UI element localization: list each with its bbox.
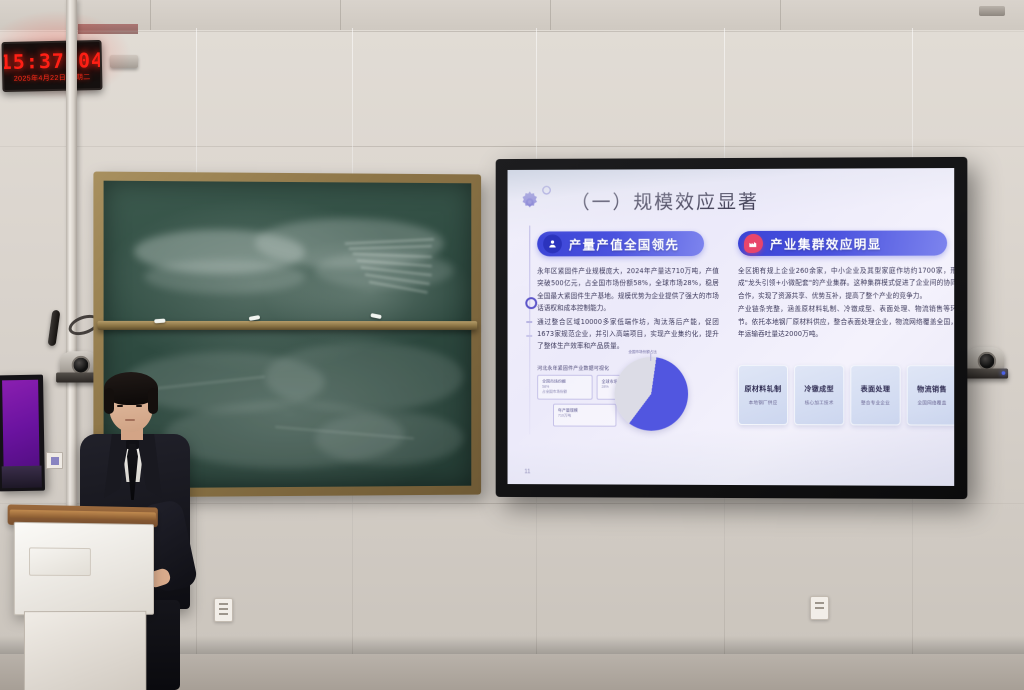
podium-control-panel[interactable] <box>29 547 91 576</box>
podium <box>8 504 158 690</box>
ptz-camera-right <box>960 342 1012 382</box>
user-icon <box>543 234 562 253</box>
wall-seam <box>0 31 1024 32</box>
ceiling-device <box>110 55 138 68</box>
paragraph: 永年区紧固件产业规模庞大，2024年产量达710万吨，产值突破500亿元，占全国… <box>537 265 719 315</box>
badge-label: 产业集群效应明显 <box>770 234 882 253</box>
gear-icon <box>517 184 557 218</box>
side-monitor <box>0 375 45 492</box>
display-screen[interactable]: 11 （一）规模效应显著 <box>508 168 955 486</box>
ceiling-strip <box>78 24 138 34</box>
card-title: 表面处理 <box>861 384 891 394</box>
pie-chart-graphic <box>614 357 688 431</box>
mini-box-note: 占全国市场份额 <box>542 390 588 395</box>
clock-date: 2025年4月22日 星期二 <box>14 74 91 83</box>
slide-title: （一）规模效应显著 <box>571 187 759 215</box>
wall-seam <box>0 146 1024 147</box>
podium-front <box>14 522 154 615</box>
ceiling-panel <box>150 0 341 30</box>
mini-box: 年产量规模 710万吨 <box>553 404 616 427</box>
wall-outlet[interactable] <box>214 598 233 622</box>
pie-leader-line <box>650 354 651 361</box>
clock-time: 15:37:04 <box>1 49 102 71</box>
podium-base <box>24 611 146 690</box>
mini-box-value: 710万吨 <box>558 414 612 419</box>
card-subtitle: 本地钢厂供应 <box>749 400 778 406</box>
card-subtitle: 全国网络覆盖 <box>917 400 946 406</box>
wall-outlet[interactable] <box>810 596 829 620</box>
classroom-scene: 15:37:04 2025年4月22日 星期二 <box>0 0 1024 690</box>
badge-production-leading: 产量产值全国领先 <box>537 231 704 256</box>
slide-column-left: 产量产值全国领先 永年区紧固件产业规模庞大，2024年产量达710万吨，产值突破… <box>537 231 719 354</box>
support-pole <box>66 0 77 565</box>
paragraph: 全区拥有规上企业260余家，中小企业及其型家庭作坊约1700家，形成"龙头引领+… <box>738 265 954 303</box>
paragraph: 通过整合区域10000多家低端作坊，淘汰落后产能，促团1673家规范企业，并引入… <box>537 316 719 353</box>
slide-marker-dash <box>526 321 532 323</box>
side-monitor-base <box>2 466 42 489</box>
card-title: 冷镦成型 <box>804 384 834 394</box>
slide-column-right: 产业集群效应明显 全区拥有规上企业260余家，中小企业及其型家庭作坊约1700家… <box>738 230 954 341</box>
card-subtitle: 整合专业企业 <box>861 400 890 406</box>
card-title: 原材料轧制 <box>744 384 781 394</box>
pie-chart-title: 全国市场份额占比 <box>628 350 657 355</box>
left-body-text: 永年区紧固件产业规模庞大，2024年产量达710万吨，产值突破500亿元，占全国… <box>537 265 719 353</box>
mini-box: 全国市场份额 58% 占全国市场份额 <box>537 375 592 400</box>
presentation-slide: 11 （一）规模效应显著 <box>508 168 955 486</box>
pie-chart: 全国市场份额占比 <box>614 357 688 431</box>
process-card: 表面处理 整合专业企业 <box>850 365 900 425</box>
presenter-mouth <box>125 419 135 421</box>
slide-marker-dot <box>525 297 537 309</box>
digital-clock: 15:37:04 2025年4月22日 星期二 <box>1 40 102 92</box>
paragraph: 产业链条完整，涵盖原材料轧制、冷镦成型、表面处理、物流销售等环节。依托本地钢厂原… <box>738 303 954 340</box>
wall-display[interactable]: 11 （一）规模效应显著 <box>496 157 968 499</box>
process-card: 原材料轧制 本地钢厂供应 <box>738 365 788 425</box>
slide-marker-dash <box>526 335 532 337</box>
card-subtitle: 核心加工技术 <box>805 400 834 406</box>
ceiling-panel <box>340 0 551 30</box>
badge-label: 产量产值全国领先 <box>569 234 679 253</box>
badge-cluster-effect: 产业集群效应明显 <box>738 230 947 256</box>
slide-left-rule <box>529 226 530 435</box>
factory-icon <box>744 234 763 253</box>
process-card: 冷镦成型 核心加工技术 <box>794 365 844 425</box>
right-body-text: 全区拥有规上企业260余家，中小企业及其型家庭作坊约1700家，形成"龙头引领+… <box>738 265 954 341</box>
process-card: 物流销售 全国网络覆盖 <box>907 365 954 425</box>
ceiling-panel <box>550 0 781 30</box>
card-title: 物流销售 <box>917 384 947 394</box>
ceiling-device <box>979 6 1005 16</box>
slide-page-number: 11 <box>524 469 530 475</box>
wall-plate[interactable] <box>46 452 63 469</box>
process-cards: 原材料轧制 本地钢厂供应 冷镦成型 核心加工技术 表面处理 整合专业企业 物流销… <box>738 365 954 426</box>
